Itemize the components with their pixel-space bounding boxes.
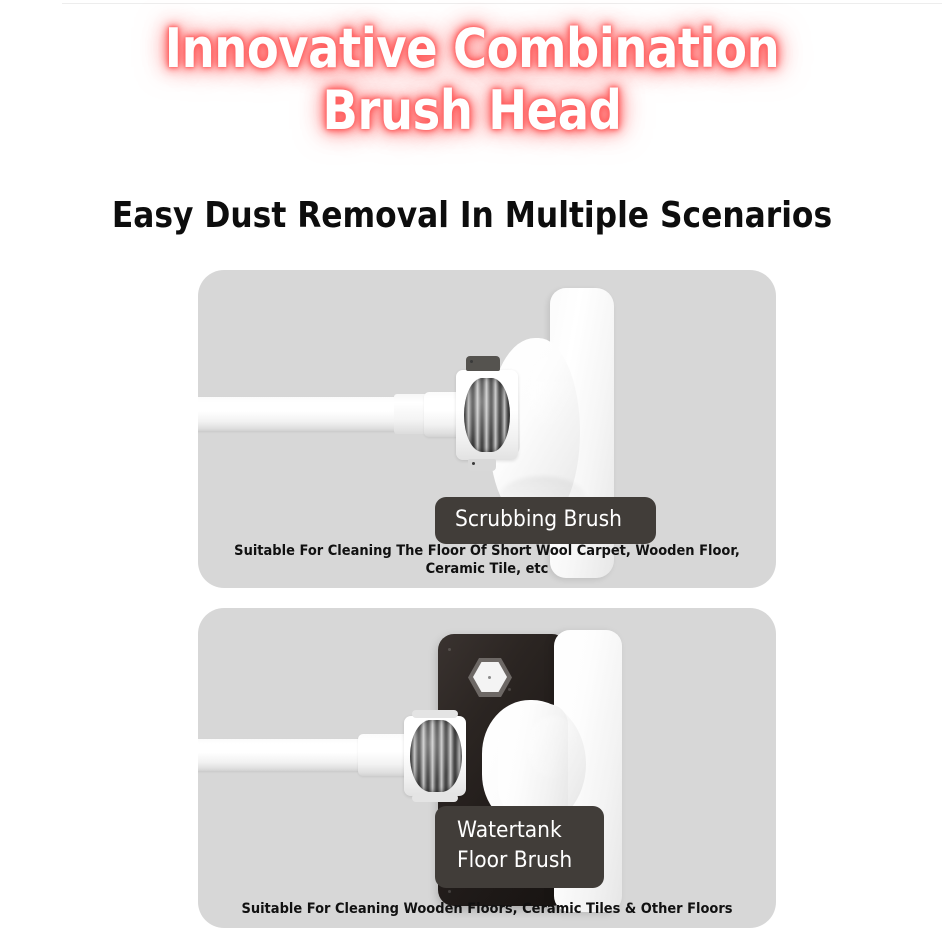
badge-label-line-1: Scrubbing Brush	[455, 505, 622, 535]
tank-screw-mid	[508, 688, 511, 691]
watertank-cap-center-dot	[488, 676, 491, 679]
tank-screw-top-left	[448, 648, 451, 651]
socket-tab-bottom	[412, 794, 458, 802]
top-divider	[62, 3, 942, 4]
product-panel-scrubbing-brush: Scrubbing Brush Suitable For Cleaning Th…	[198, 270, 776, 588]
panel-badge-watertank-floor-brush: Watertank Floor Brush	[435, 806, 604, 888]
socket-tab-bottom	[468, 459, 496, 471]
page-subtitle: Easy Dust Removal In Multiple Scenarios	[61, 194, 882, 238]
socket-tab-top	[466, 356, 500, 371]
page-title-line-1: Innovative Combination	[66, 18, 878, 80]
panel-badge-scrubbing-brush: Scrubbing Brush	[435, 497, 656, 544]
socket-screw-bottom	[472, 462, 475, 465]
panel-caption-watertank-floor-brush: Suitable For Cleaning Wooden Floors, Cer…	[218, 900, 756, 918]
socket-screw-top	[470, 360, 473, 363]
product-panel-watertank-floor-brush: Watertank Floor Brush Suitable For Clean…	[198, 608, 776, 928]
vacuum-wand	[198, 739, 368, 771]
panel-caption-scrubbing-brush: Suitable For Cleaning The Floor Of Short…	[218, 542, 756, 578]
head-gloss-highlight	[528, 354, 572, 424]
page-title-line-2: Brush Head	[66, 80, 878, 142]
socket-tab-top	[412, 710, 458, 718]
badge-label-line-1: Watertank	[457, 816, 572, 846]
ribbed-hose-connector	[464, 378, 510, 452]
badge-label-line-2: Floor Brush	[457, 846, 572, 876]
page-title: Innovative Combination Brush Head	[66, 18, 878, 142]
ribbed-hose-connector	[410, 720, 462, 792]
head-gloss-highlight	[528, 716, 578, 778]
tank-screw-bottom-left	[448, 890, 451, 893]
